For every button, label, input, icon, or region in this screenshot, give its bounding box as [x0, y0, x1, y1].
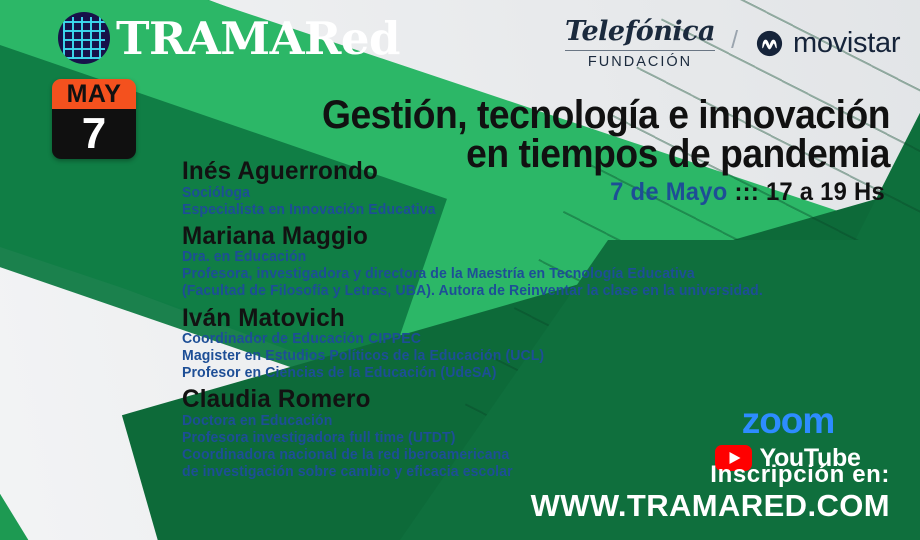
speaker-item: Mariana Maggio Dra. en Educación Profeso…	[182, 223, 802, 301]
speaker-name: Inés Aguerrondo	[182, 158, 783, 185]
brand-name: TRAMARed	[116, 16, 400, 61]
telefonica-subtitle: FUNDACIÓN	[565, 55, 715, 70]
calendar-day: 7	[52, 109, 136, 159]
calendar-badge: MAY 7	[52, 79, 136, 159]
grid-pattern	[63, 17, 105, 59]
speaker-name: Mariana Maggio	[182, 223, 783, 250]
sponsor-logos: Telefónica FUNDACIÓN / movistar	[565, 18, 900, 70]
poster-content: TRAMARed MAY 7 Telefónica FUNDACIÓN / mo…	[0, 0, 920, 540]
speaker-credential: (Facultad de Filosofía y Letras, UBA). A…	[182, 283, 783, 300]
grid-circle-icon	[58, 12, 110, 64]
speaker-credential: Profesor en Ciencias de la Educación (Ud…	[182, 365, 783, 382]
speaker-credential: Especialista en Innovación Educativa	[182, 202, 783, 219]
speaker-item: Iván Matovich Coordinador de Educación C…	[182, 305, 802, 383]
registration-label: Inscripción en:	[531, 462, 890, 488]
movistar-logo: movistar	[754, 28, 900, 59]
speaker-item: Inés Aguerrondo Socióloga Especialista e…	[182, 158, 802, 219]
movistar-m-icon	[754, 28, 785, 59]
telefonica-logo: Telefónica FUNDACIÓN	[565, 18, 715, 70]
calendar-month: MAY	[52, 79, 136, 109]
speaker-credential: Profesora, investigadora y directora de …	[182, 266, 783, 283]
speaker-credential: Dra. en Educación	[182, 249, 783, 266]
brand-lockup: TRAMARed	[58, 12, 400, 64]
event-poster: TRAMARed MAY 7 Telefónica FUNDACIÓN / mo…	[0, 0, 920, 540]
title-line-1: Gestión, tecnología e innovación	[313, 96, 890, 135]
movistar-wordmark: movistar	[793, 29, 900, 58]
speaker-credential: Doctora en Educación	[182, 413, 783, 430]
speaker-credential: Socióloga	[182, 185, 783, 202]
registration-url[interactable]: WWW.TRAMARED.COM	[531, 488, 890, 524]
zoom-logo: zoom	[698, 402, 878, 439]
speaker-credential: Magister en Estudios Políticos de la Edu…	[182, 348, 783, 365]
speaker-credential: Coordinador de Educación CIPPEC	[182, 331, 783, 348]
registration-block: Inscripción en: WWW.TRAMARED.COM	[531, 462, 890, 524]
speaker-name: Claudia Romero	[182, 386, 783, 413]
telefonica-wordmark: Telefónica	[565, 18, 715, 45]
speaker-credential: Profesora investigadora full time (UTDT)	[182, 430, 783, 447]
sponsor-separator: /	[731, 26, 738, 55]
telefonica-divider	[565, 50, 715, 51]
speaker-name: Iván Matovich	[182, 305, 783, 332]
